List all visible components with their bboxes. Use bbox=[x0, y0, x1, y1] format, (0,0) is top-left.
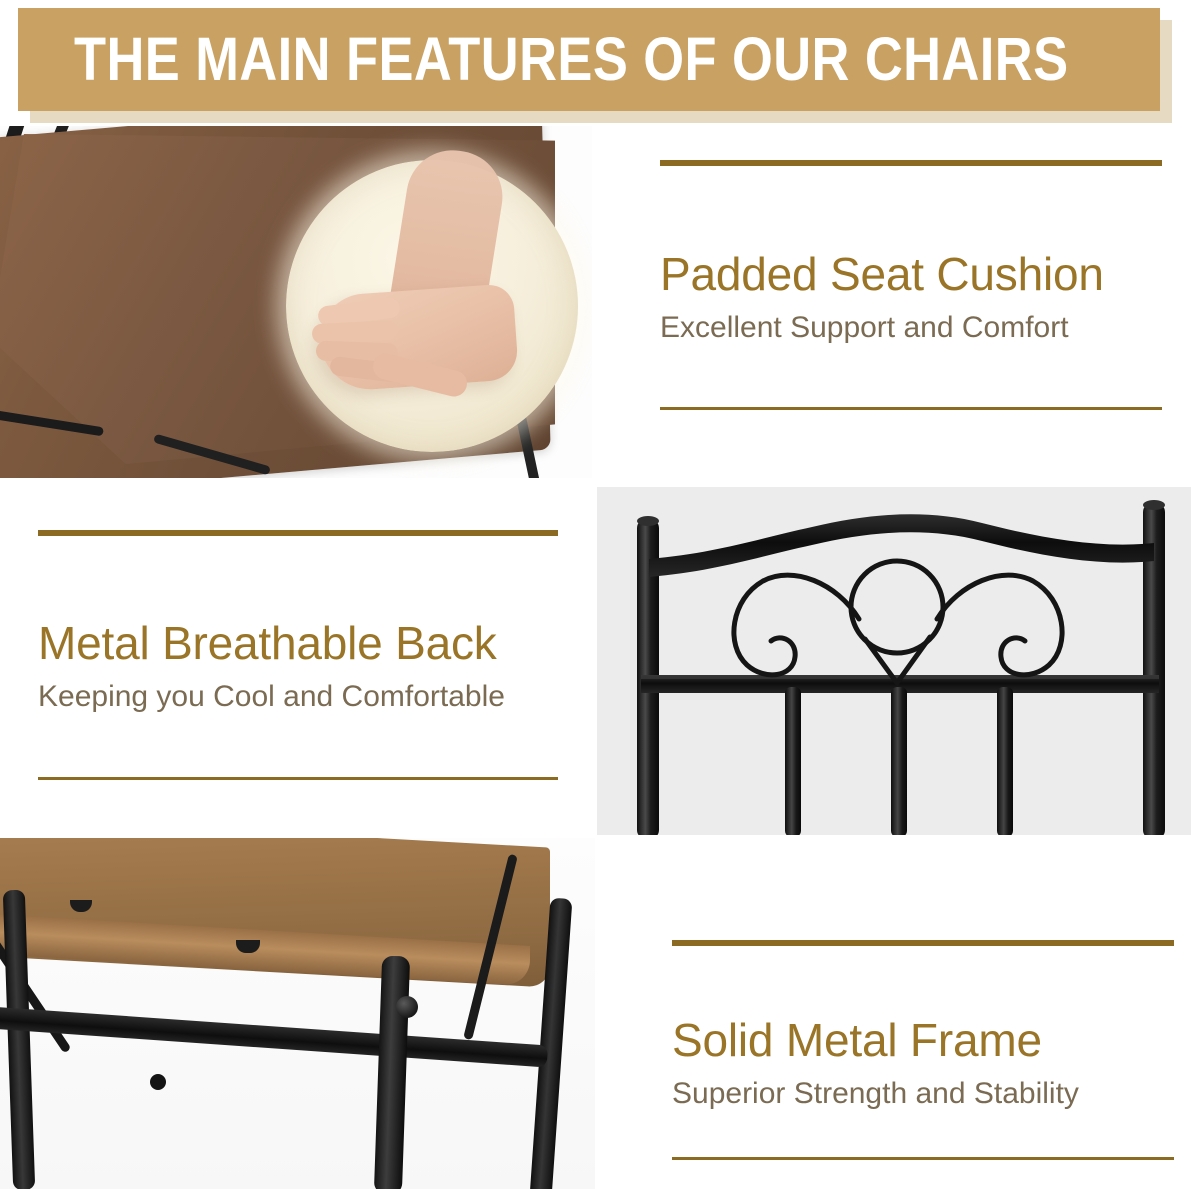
feature-image-padded-seat-cushion bbox=[0, 126, 592, 478]
feature-text-solid-metal-frame: Solid Metal Frame Superior Strength and … bbox=[672, 940, 1174, 1160]
divider-rule-bottom bbox=[38, 777, 558, 780]
feature-title: Metal Breathable Back bbox=[38, 618, 558, 670]
divider-rule-bottom bbox=[672, 1157, 1174, 1160]
divider-rule-bottom bbox=[660, 407, 1162, 410]
feature-image-solid-metal-frame bbox=[0, 838, 595, 1189]
brace-joint bbox=[150, 1074, 166, 1090]
banner-bar: THE MAIN FEATURES OF OUR CHAIRS bbox=[18, 8, 1160, 111]
bolt bbox=[396, 996, 418, 1018]
feature-subtitle: Keeping you Cool and Comfortable bbox=[38, 679, 558, 715]
page-title: THE MAIN FEATURES OF OUR CHAIRS bbox=[74, 29, 1069, 90]
feature-title: Padded Seat Cushion bbox=[660, 249, 1162, 301]
feature-text-metal-breathable-back: Metal Breathable Back Keeping you Cool a… bbox=[38, 530, 558, 780]
infographic-page: THE MAIN FEATURES OF OUR CHAIRS Padded S… bbox=[0, 0, 1191, 1189]
chair-back-illustration bbox=[597, 487, 1191, 835]
header-banner: THE MAIN FEATURES OF OUR CHAIRS bbox=[18, 8, 1160, 111]
feature-text-padded-seat-cushion: Padded Seat Cushion Excellent Support an… bbox=[660, 160, 1162, 410]
feature-subtitle: Superior Strength and Stability bbox=[672, 1076, 1174, 1112]
feature-image-metal-breathable-back bbox=[597, 487, 1191, 835]
feature-subtitle: Excellent Support and Comfort bbox=[660, 310, 1162, 346]
feature-title: Solid Metal Frame bbox=[672, 1015, 1174, 1067]
